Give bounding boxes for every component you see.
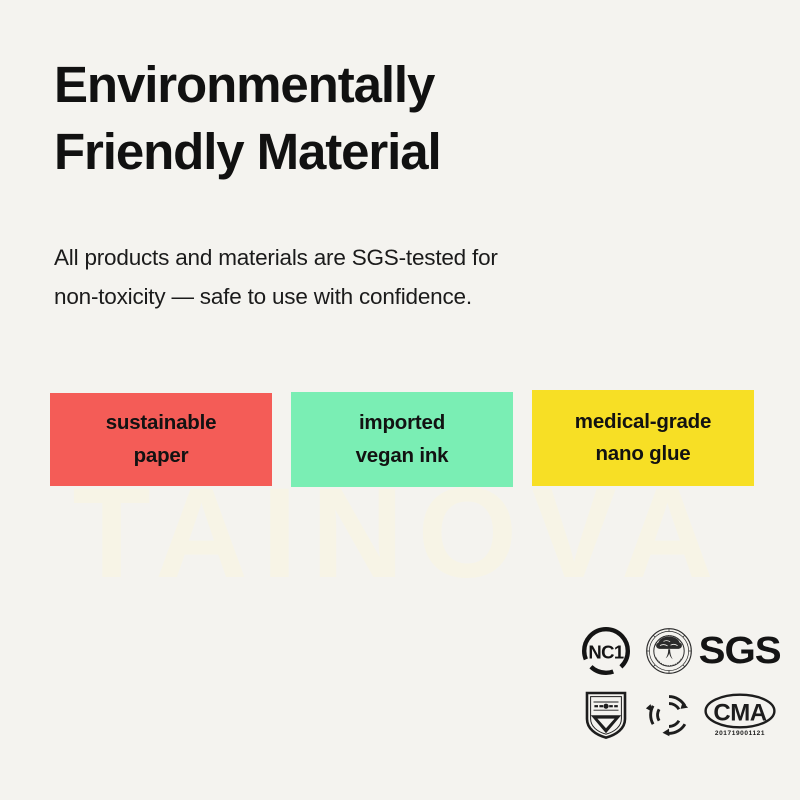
description-line-1: All products and materials are SGS-teste…: [54, 238, 654, 277]
material-chip-vegan-ink: imported vegan ink: [291, 392, 513, 487]
chip-label-line-1: medical-grade: [575, 406, 711, 438]
certification-badge-grid: NC1: [575, 620, 780, 746]
recycle-icon: [644, 690, 694, 740]
cma-icon: CMA: [704, 693, 776, 729]
svg-text:NC1: NC1: [588, 642, 624, 663]
recycling-symbol-badge: [644, 690, 694, 740]
chip-label-line-2: vegan ink: [356, 440, 449, 472]
tree-seal-icon: [644, 626, 694, 676]
sgs-certification-badge: SGS: [701, 632, 778, 670]
material-chip-group: sustainable paper imported vegan ink med…: [50, 390, 756, 490]
nc1-icon: NC1: [581, 626, 631, 676]
material-chip-sustainable-paper: sustainable paper: [50, 393, 272, 486]
forest-tree-seal-badge: [644, 626, 694, 676]
chip-label-line-2: nano glue: [595, 438, 690, 470]
shield-icon: [583, 689, 629, 741]
description-line-2: non-toxicity — safe to use with confiden…: [54, 277, 654, 316]
nc1-certification-badge: NC1: [581, 626, 631, 676]
cma-certification-badge: CMA 201719001121: [704, 693, 776, 738]
chip-label-line-1: sustainable: [106, 407, 217, 439]
shield-quality-badge: [583, 689, 629, 741]
chip-label-line-1: imported: [359, 407, 445, 439]
svg-text:CMA: CMA: [713, 699, 766, 726]
page-title-line-2: Friendly Material: [54, 119, 694, 186]
page-title-line-1: Environmentally: [54, 52, 694, 119]
poster-canvas: TAINOVA Environmentally Friendly Materia…: [0, 0, 800, 800]
cma-code: 201719001121: [715, 731, 765, 738]
description-text: All products and materials are SGS-teste…: [54, 238, 654, 316]
page-title: Environmentally Friendly Material: [54, 52, 694, 186]
material-chip-nano-glue: medical-grade nano glue: [532, 390, 754, 486]
sgs-wordmark: SGS: [699, 632, 781, 670]
chip-label-line-2: paper: [134, 440, 189, 472]
